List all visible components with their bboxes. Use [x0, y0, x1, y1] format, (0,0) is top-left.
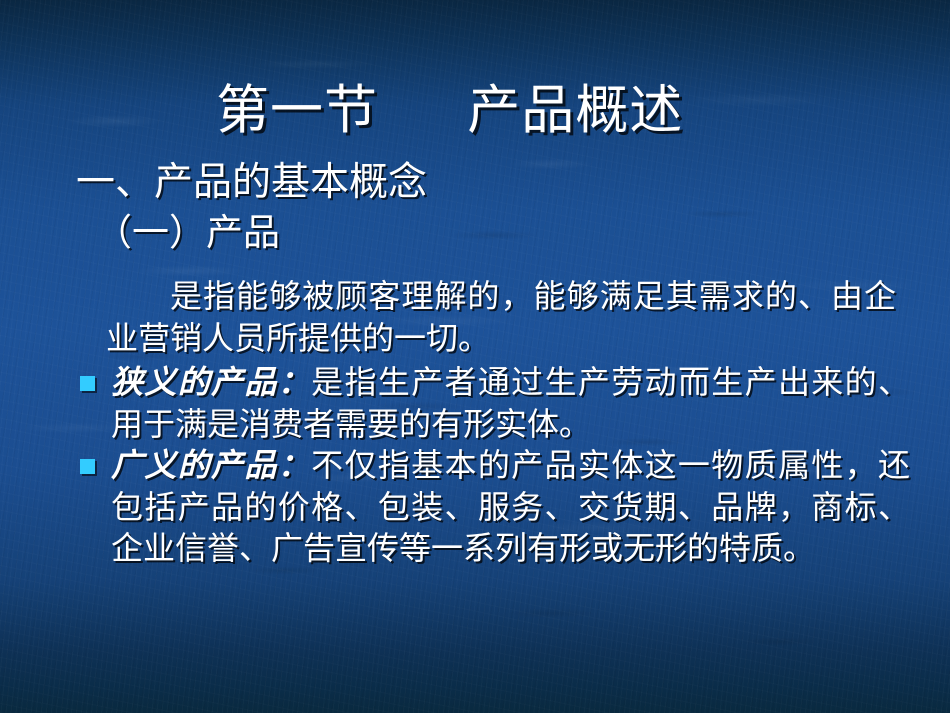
definition-paragraph: 是指能够被顾客理解的，能够满足其需求的、由企业营销人员所提供的一切。	[106, 276, 896, 359]
bullet-term: 狭义的产品：	[111, 363, 311, 401]
section-heading-level-2: （一）产品	[95, 214, 280, 253]
slide-title: 第一节 产品概述	[216, 83, 683, 139]
bullet-item: 广义的产品：不仅指基本的产品实体这一物质属性，还包括产品的价格、包装、服务、交货…	[80, 445, 910, 570]
bullet-item: 狭义的产品：是指生产者通过生产劳动而生产出来的、用于满是消费者需要的有形实体。	[80, 362, 910, 445]
section-heading-level-1: 一、产品的基本概念	[76, 163, 427, 204]
square-bullet-icon	[80, 376, 95, 391]
bullet-term: 广义的产品：	[111, 446, 311, 484]
bullet-text: 广义的产品：不仅指基本的产品实体这一物质属性，还包括产品的价格、包装、服务、交货…	[111, 445, 910, 570]
bullet-text: 狭义的产品：是指生产者通过生产劳动而生产出来的、用于满是消费者需要的有形实体。	[111, 362, 910, 445]
square-bullet-icon	[80, 459, 95, 474]
presentation-slide: 第一节 产品概述 一、产品的基本概念 （一）产品 是指能够被顾客理解的，能够满足…	[0, 0, 950, 713]
slide-content: 第一节 产品概述 一、产品的基本概念 （一）产品 是指能够被顾客理解的，能够满足…	[0, 0, 950, 713]
